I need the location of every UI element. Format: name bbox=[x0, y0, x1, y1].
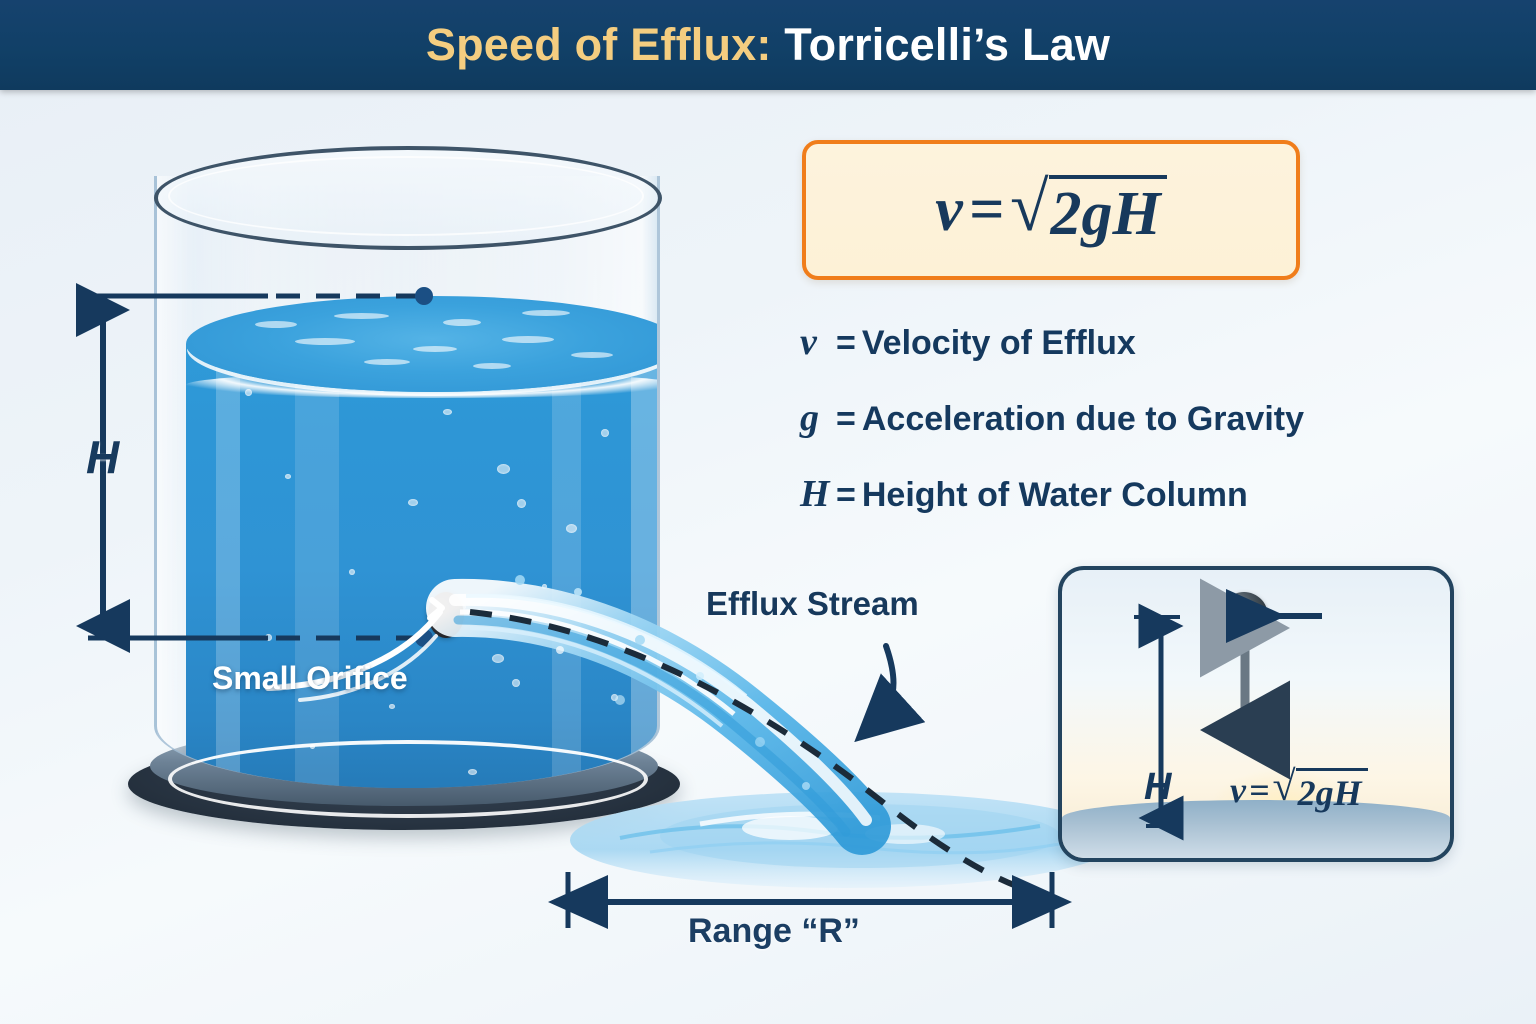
diagram-canvas: Speed of Efflux: Torricelli’s Law bbox=[0, 0, 1536, 1024]
inset-label-h: H bbox=[1144, 766, 1171, 809]
water-foam-line bbox=[186, 372, 660, 398]
legend-item-v: v = Velocity of Efflux bbox=[800, 320, 1400, 364]
inset-formula-radicand: 2gH bbox=[1296, 768, 1368, 811]
formula-box: v = √ 2gH bbox=[802, 140, 1300, 280]
formula-radicand: 2gH bbox=[1049, 175, 1167, 245]
inset-formula-equals: = bbox=[1249, 769, 1270, 811]
legend-symbol: g bbox=[800, 396, 830, 440]
legend-text: Acceleration due to Gravity bbox=[862, 400, 1304, 439]
label-efflux-stream: Efflux Stream bbox=[706, 585, 919, 623]
label-small-orifice: Small Orifice bbox=[212, 660, 408, 697]
title-bar: Speed of Efflux: Torricelli’s Law bbox=[0, 0, 1536, 90]
efflux-stream-leader bbox=[872, 646, 894, 726]
formula-lhs: v bbox=[935, 175, 963, 246]
water-tank bbox=[128, 140, 680, 840]
legend-text: Velocity of Efflux bbox=[862, 324, 1136, 363]
legend-list: v = Velocity of Efflux g = Acceleration … bbox=[800, 320, 1400, 548]
formula-equals: = bbox=[969, 175, 1004, 246]
free-fall-inset-panel: H v = √ 2gH bbox=[1058, 566, 1454, 862]
formula-sqrt: √ 2gH bbox=[1010, 175, 1167, 245]
torricelli-formula: v = √ 2gH bbox=[935, 175, 1167, 246]
legend-item-h: H = Height of Water Column bbox=[800, 472, 1400, 516]
tank-inner-bottom bbox=[168, 740, 648, 818]
legend-equals: = bbox=[836, 324, 856, 363]
label-height-h: H bbox=[86, 430, 119, 484]
inset-formula-sqrt: √ 2gH bbox=[1273, 768, 1368, 811]
page-title: Speed of Efflux: Torricelli’s Law bbox=[426, 19, 1110, 71]
label-range-r: Range “R” bbox=[688, 912, 860, 951]
legend-equals: = bbox=[836, 400, 856, 439]
title-part-amber: Speed of Efflux: bbox=[426, 19, 772, 70]
legend-symbol: v bbox=[800, 320, 830, 364]
tank-rim-inner bbox=[168, 156, 644, 236]
water-column bbox=[186, 344, 660, 788]
legend-equals: = bbox=[836, 476, 856, 515]
inset-radical-sign: √ bbox=[1273, 768, 1296, 808]
legend-text: Height of Water Column bbox=[862, 476, 1248, 515]
legend-symbol: H bbox=[800, 472, 830, 516]
orifice-hole bbox=[428, 592, 464, 638]
title-part-white: Torricelli’s Law bbox=[772, 19, 1111, 70]
legend-item-g: g = Acceleration due to Gravity bbox=[800, 396, 1400, 440]
inset-formula-lhs: v bbox=[1230, 769, 1246, 811]
inset-formula: v = √ 2gH bbox=[1230, 768, 1368, 811]
radical-sign: √ bbox=[1010, 175, 1048, 242]
inset-overlay bbox=[1062, 570, 1450, 858]
